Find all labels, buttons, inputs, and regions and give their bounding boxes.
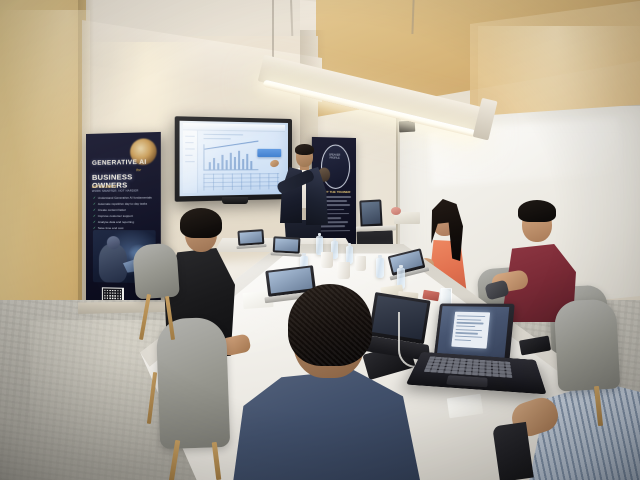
pendant-suspension-rod [272, 0, 274, 58]
stand-laptop [359, 199, 382, 228]
laptop-foreground [421, 296, 540, 404]
paper-cup [337, 262, 350, 279]
banner-bullet-item: ✓ Automate repetitive day-to-day tasks [93, 203, 156, 207]
presenter-hand [269, 159, 280, 169]
presenter-hair [295, 144, 314, 155]
meeting-room-photo: GENERATIVE AI for BUSINESS OWNERS LET'S … [0, 0, 640, 480]
check-icon: ✓ [93, 209, 96, 213]
laptop-screen [437, 306, 509, 358]
check-icon: ✓ [93, 203, 96, 207]
side-table-fruit [391, 207, 401, 215]
banner-sub-detail: WORK SMARTER, NOT HARDER [92, 189, 155, 193]
banner-subheadline: LET'S USE IT [92, 184, 155, 189]
banner-photo-person [99, 244, 127, 283]
banner-headline-connector: for [136, 167, 141, 172]
display-wall-mount [222, 197, 248, 204]
laptop-document [451, 312, 490, 349]
banner-bullet-item: ✓ Improve customer support [93, 215, 156, 219]
participant-hair [518, 200, 556, 222]
laptop-keyboard-deck [406, 352, 547, 394]
paper-cup [355, 256, 366, 271]
paper-cup [321, 252, 333, 268]
check-icon: ✓ [93, 221, 96, 225]
check-icon: ✓ [93, 197, 96, 201]
banner-bullet-item: ✓ Understand Generative AI fundamentals [93, 196, 156, 200]
chair [132, 243, 180, 300]
chair [554, 298, 621, 391]
participant-hair [180, 208, 222, 238]
banner-bullet-item: ✓ Analyse data and reporting [93, 221, 156, 225]
laptop-trackpad [446, 375, 487, 387]
check-icon: ✓ [93, 215, 96, 219]
wall-light-wash [0, 10, 90, 240]
water-bottle [376, 258, 384, 278]
laptop [237, 229, 264, 249]
banner-headline-line1: GENERATIVE AI [92, 159, 155, 167]
stand-laptop-screen [361, 202, 380, 225]
participant-hair [288, 284, 372, 366]
laptop [273, 236, 301, 256]
banner-bullet-item: ✓ Create content faster [93, 209, 156, 213]
banner-photo-person-head [107, 236, 120, 249]
laptop-keyboard [424, 356, 513, 378]
chair [156, 317, 230, 449]
